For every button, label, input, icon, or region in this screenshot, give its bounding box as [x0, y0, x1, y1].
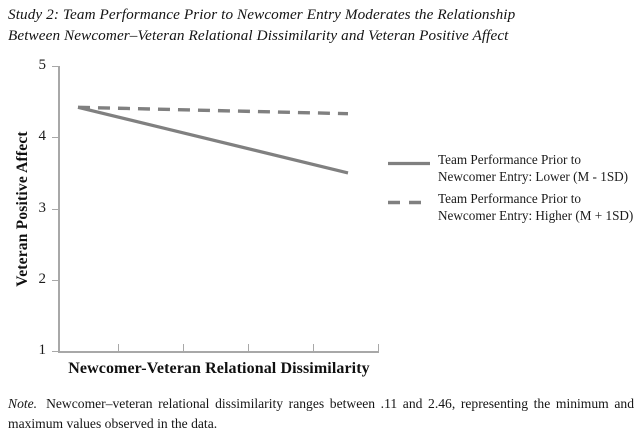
chart-legend: Team Performance Prior to Newcomer Entry…	[388, 154, 636, 232]
legend-item-higher[interactable]: Team Performance Prior to Newcomer Entry…	[388, 193, 636, 232]
figure-title: Study 2: Team Performance Prior to Newco…	[8, 4, 632, 46]
legend-label-higher: Team Performance Prior to Newcomer Entry…	[438, 191, 636, 224]
legend-label-lower-line-2: Newcomer Entry: Lower (M - 1SD)	[438, 169, 636, 186]
figure-title-line-2: Between Newcomer–Veteran Relational Diss…	[8, 25, 632, 46]
figure-title-line-1: Study 2: Team Performance Prior to Newco…	[8, 4, 632, 25]
series-line-higher	[78, 107, 348, 113]
series-line-lower	[78, 107, 348, 173]
y-axis-title: Veteran Positive Affect	[14, 94, 32, 324]
x-axis-title: Newcomer-Veteran Relational Dissimilarit…	[58, 360, 380, 378]
legend-label-lower-line-1: Team Performance Prior to	[438, 152, 636, 169]
legend-label-higher-line-2: Newcomer Entry: Higher (M + 1SD)	[438, 208, 636, 225]
figure-note: Note.Newcomer–veteran relational dissimi…	[8, 394, 634, 434]
legend-label-higher-line-1: Team Performance Prior to	[438, 191, 636, 208]
legend-swatch-dashed	[388, 200, 430, 204]
chart-area: 5 4 3 2 1 Veteran Positive Affect Newcom…	[0, 50, 640, 395]
figure-container: Study 2: Team Performance Prior to Newco…	[0, 0, 640, 444]
figure-note-label: Note.	[8, 396, 37, 411]
figure-note-text: Newcomer–veteran relational dissimilarit…	[8, 396, 634, 431]
legend-swatch-solid	[388, 161, 430, 165]
legend-item-lower[interactable]: Team Performance Prior to Newcomer Entry…	[388, 154, 636, 193]
legend-label-lower: Team Performance Prior to Newcomer Entry…	[438, 152, 636, 185]
